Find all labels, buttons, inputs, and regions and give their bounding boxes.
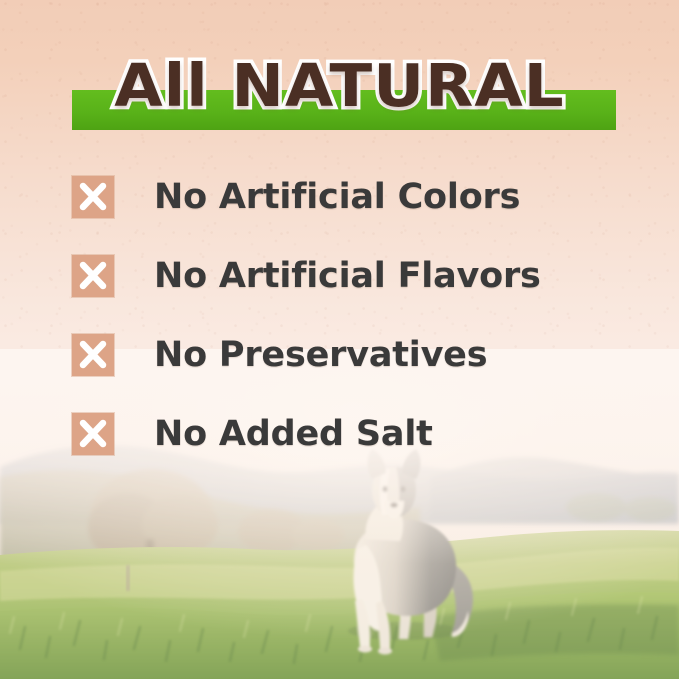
x-mark-icon — [72, 334, 114, 376]
all-natural-product-poster: All NATURAL No Artificial Colors No Arti… — [0, 0, 679, 679]
x-mark-icon — [72, 176, 114, 218]
feature-label: No Artificial Colors — [154, 176, 520, 218]
list-item: No Artificial Colors — [72, 176, 632, 218]
feature-list: No Artificial Colors No Artificial Flavo… — [72, 176, 632, 455]
list-item: No Added Salt — [72, 413, 632, 455]
feature-label: No Preservatives — [154, 334, 487, 376]
feature-label: No Artificial Flavors — [154, 255, 541, 297]
all-natural-banner: All NATURAL — [0, 52, 679, 134]
x-mark-icon — [72, 413, 114, 455]
list-item: No Preservatives — [72, 334, 632, 376]
list-item: No Artificial Flavors — [72, 255, 632, 297]
poster-title: All NATURAL — [0, 52, 679, 120]
feature-label: No Added Salt — [154, 413, 433, 455]
x-mark-icon — [72, 255, 114, 297]
